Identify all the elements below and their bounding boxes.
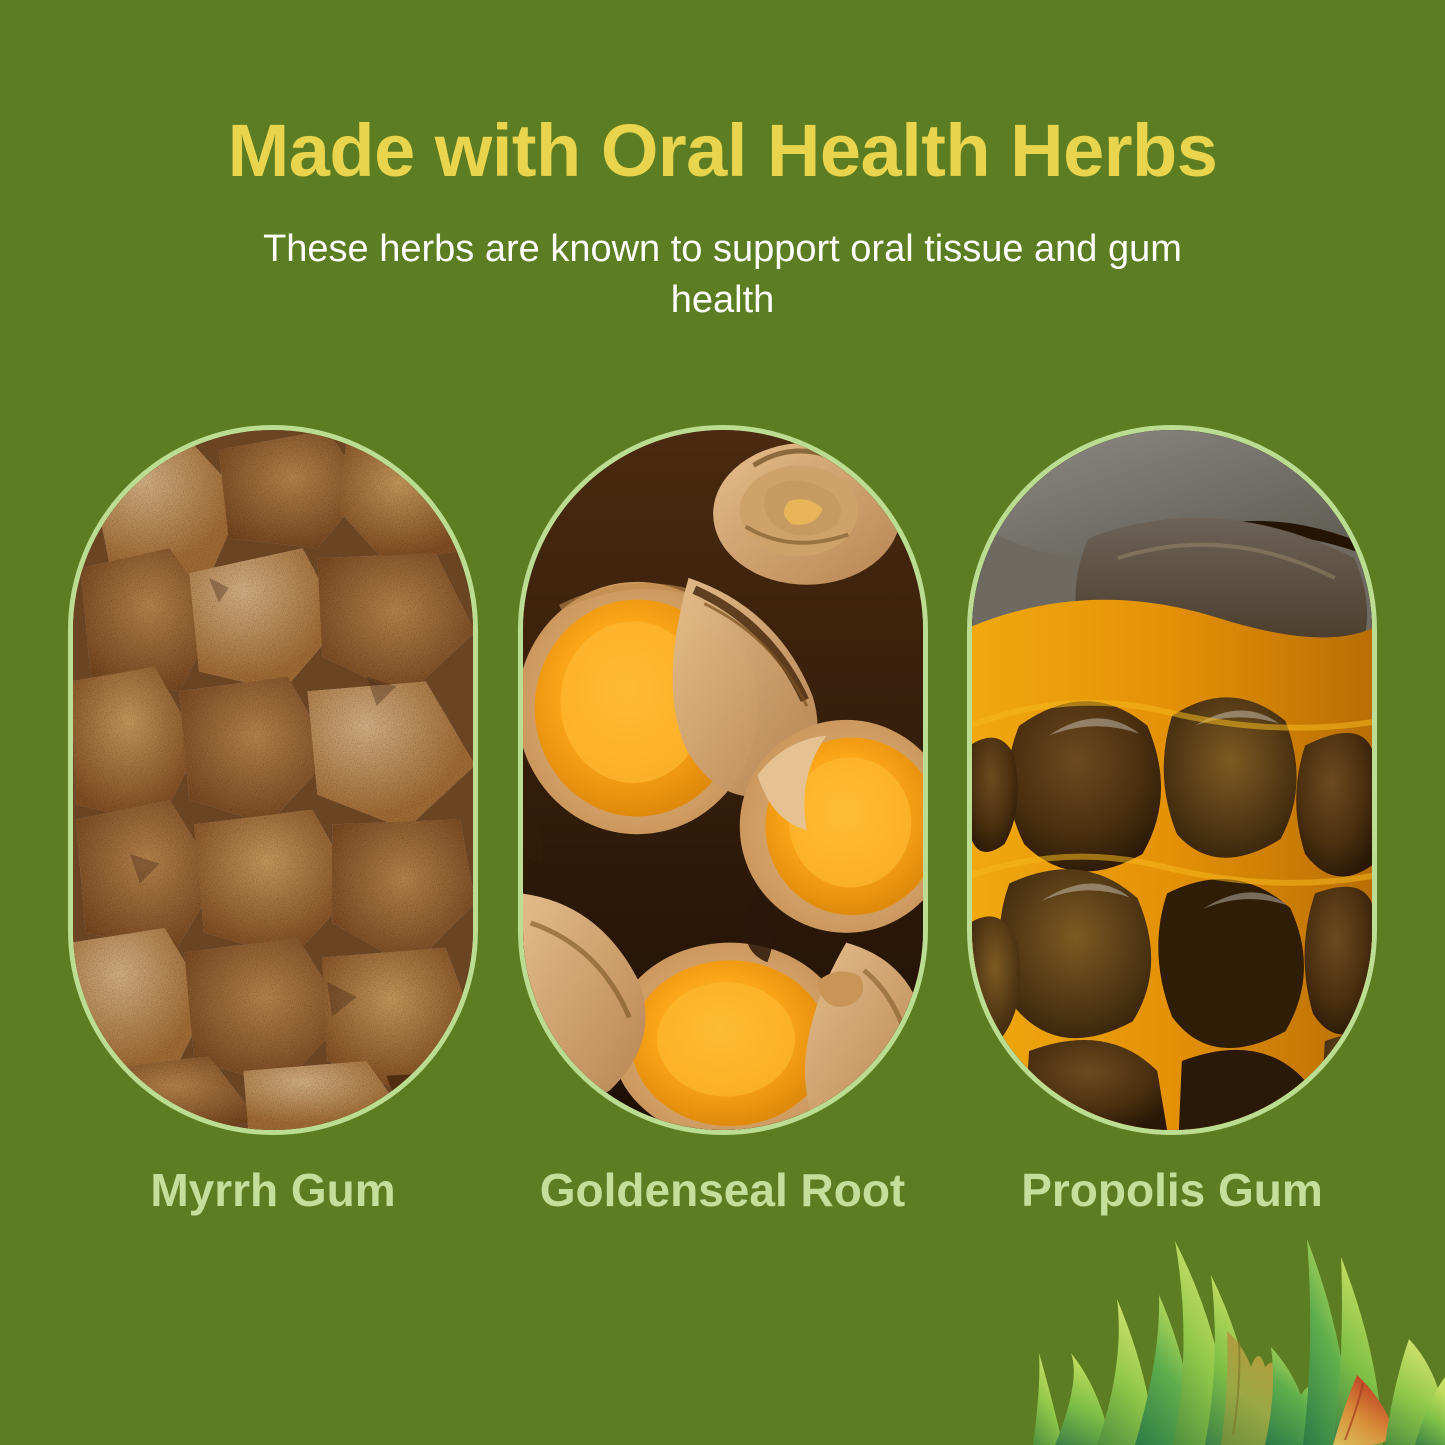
herb-label: Myrrh Gum (68, 1163, 478, 1217)
promo-poster: Made with Oral Health Herbs These herbs … (0, 0, 1445, 1445)
page-subtitle: These herbs are known to support oral ti… (233, 224, 1213, 327)
page-title: Made with Oral Health Herbs (0, 112, 1445, 190)
herb-image-frame (967, 425, 1377, 1135)
herb-image-frame (518, 425, 928, 1135)
herb-label: Goldenseal Root (518, 1163, 928, 1217)
herb-card-myrrh-gum[interactable]: Myrrh Gum (68, 425, 478, 1217)
herb-card-propolis-gum[interactable]: Propolis Gum (967, 425, 1377, 1217)
goldenseal-root-photo (523, 430, 923, 1130)
herb-card-goldenseal-root[interactable]: Goldenseal Root (518, 425, 928, 1217)
herb-label: Propolis Gum (967, 1163, 1377, 1217)
herb-card-list: Myrrh Gum (68, 425, 1377, 1217)
myrrh-gum-photo (73, 430, 473, 1130)
aloe-plant-illustration (1015, 1235, 1445, 1445)
header: Made with Oral Health Herbs These herbs … (0, 0, 1445, 326)
herb-image-frame (68, 425, 478, 1135)
propolis-gum-photo (972, 430, 1372, 1130)
